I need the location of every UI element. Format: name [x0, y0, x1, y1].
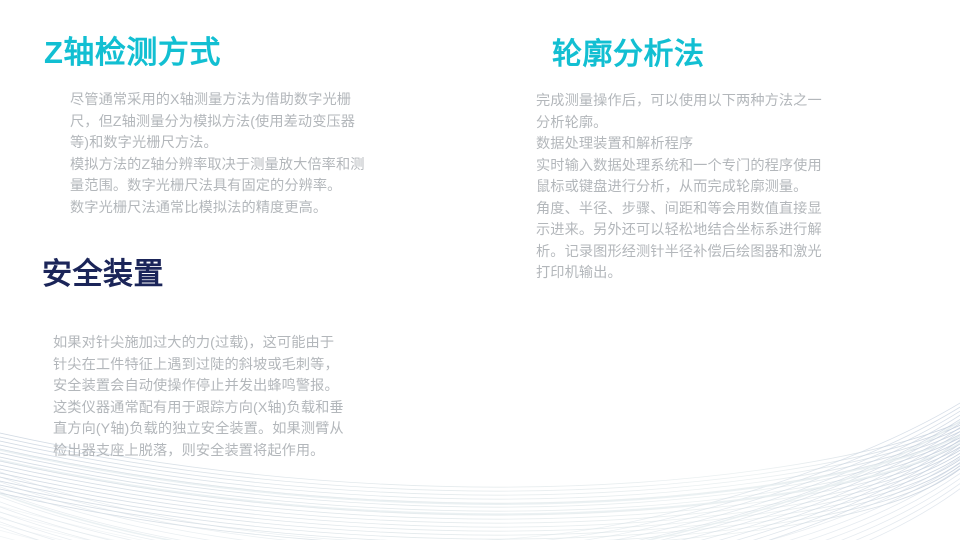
body-z-axis-detection: 尽管通常采用的X轴测量方法为借助数字光栅 尺，但Z轴测量分为模拟方法(使用差动变…	[70, 90, 452, 219]
heading-z-axis-detection: Z轴检测方式	[44, 36, 464, 70]
content-column-right: 轮廓分析法 完成测量操作后，可以使用以下两种方法之一 分析轮廓。 数据处理装置和…	[480, 0, 960, 540]
section-z-axis-detection: Z轴检测方式 尽管通常采用的X轴测量方法为借助数字光栅 尺，但Z轴测量分为模拟方…	[44, 36, 464, 219]
heading-safety-device: 安全装置	[42, 258, 462, 291]
body-profile-analysis: 完成测量操作后，可以使用以下两种方法之一 分析轮廓。 数据处理装置和解析程序 实…	[536, 91, 936, 285]
content-column-left: Z轴检测方式 尽管通常采用的X轴测量方法为借助数字光栅 尺，但Z轴测量分为模拟方…	[0, 0, 480, 540]
heading-profile-analysis: 轮廓分析法	[552, 38, 952, 71]
section-profile-analysis: 轮廓分析法 完成测量操作后，可以使用以下两种方法之一 分析轮廓。 数据处理装置和…	[552, 38, 952, 285]
body-safety-device: 如果对针尖施加过大的力(过载)，这可能由于 针尖在工件特征上遇到过陡的斜坡或毛刺…	[53, 333, 453, 462]
slide-canvas: Z轴检测方式 尽管通常采用的X轴测量方法为借助数字光栅 尺，但Z轴测量分为模拟方…	[0, 0, 960, 540]
section-safety-device: 安全装置 如果对针尖施加过大的力(过载)，这可能由于 针尖在工件特征上遇到过陡的…	[42, 258, 462, 462]
